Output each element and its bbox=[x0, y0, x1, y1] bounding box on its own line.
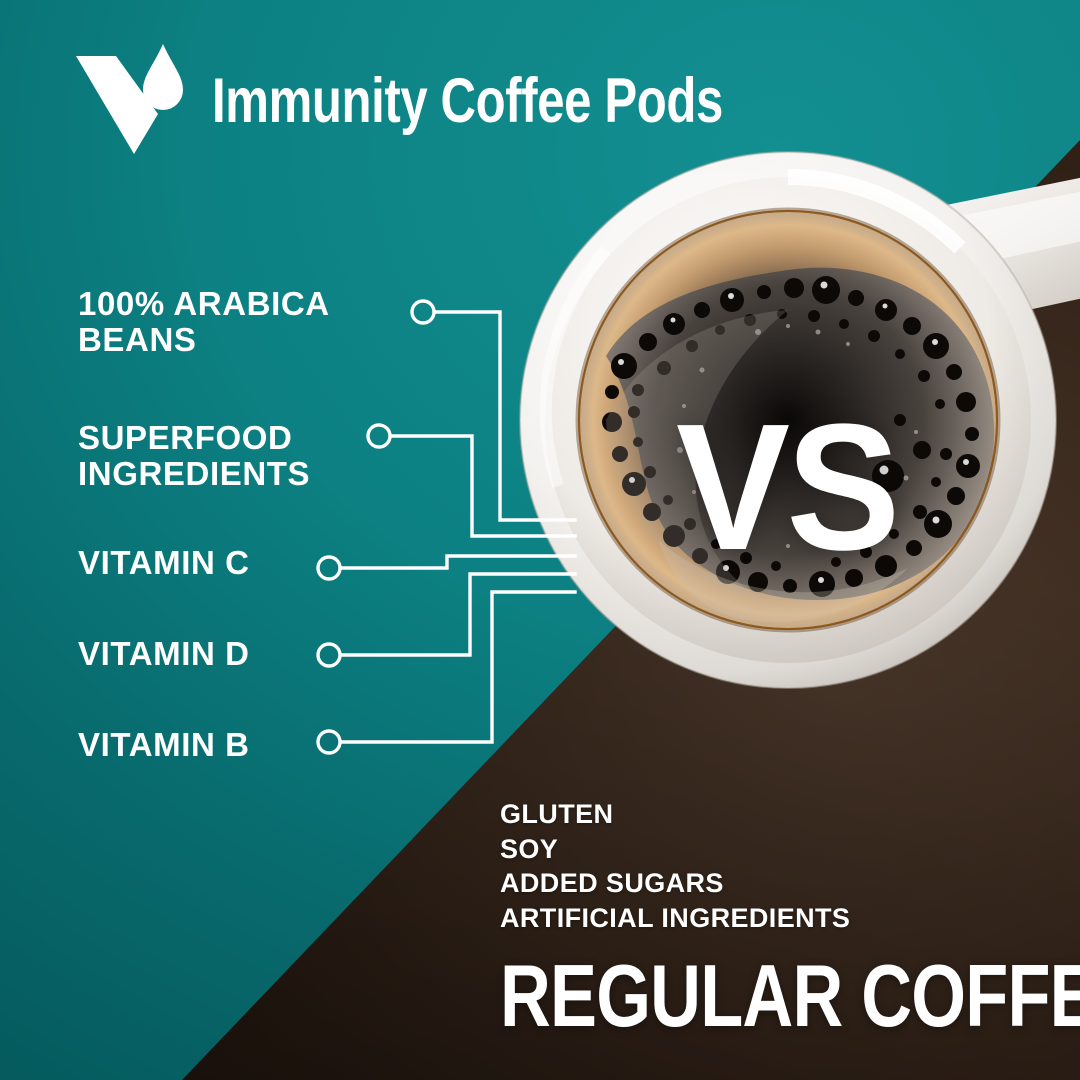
vs-label: VS bbox=[676, 398, 897, 578]
benefit-item-vitamin-d: VITAMIN D bbox=[78, 636, 250, 672]
v-droplet-logo-icon bbox=[72, 42, 190, 160]
regular-coffee-heading: REGULAR COFFEE bbox=[500, 952, 1080, 1040]
benefit-line: VITAMIN B bbox=[78, 727, 250, 763]
negatives-list: GLUTEN SOY ADDED SUGARS ARTIFICIAL INGRE… bbox=[500, 797, 850, 935]
negative-item: ARTIFICIAL INGREDIENTS bbox=[500, 901, 850, 936]
benefit-line: VITAMIN D bbox=[78, 636, 250, 672]
negative-item: ADDED SUGARS bbox=[500, 866, 850, 901]
benefit-line: INGREDIENTS bbox=[78, 456, 310, 492]
infographic-canvas: VS Immunity Coffee Pods bbox=[0, 0, 1080, 1080]
benefit-item-vitamin-c: VITAMIN C bbox=[78, 545, 250, 581]
benefit-line: SUPERFOOD bbox=[78, 420, 310, 456]
benefit-line: VITAMIN C bbox=[78, 545, 250, 581]
benefit-item-vitamin-b: VITAMIN B bbox=[78, 727, 250, 763]
benefit-item-arabica: 100% ARABICA BEANS bbox=[78, 286, 330, 357]
benefit-line: BEANS bbox=[78, 322, 330, 358]
page-title: Immunity Coffee Pods bbox=[212, 70, 723, 133]
negative-item: GLUTEN bbox=[500, 797, 850, 832]
header: Immunity Coffee Pods bbox=[72, 42, 867, 160]
benefit-line: 100% ARABICA bbox=[78, 286, 330, 322]
negative-item: SOY bbox=[500, 832, 850, 867]
benefit-item-superfood: SUPERFOOD INGREDIENTS bbox=[78, 420, 310, 491]
